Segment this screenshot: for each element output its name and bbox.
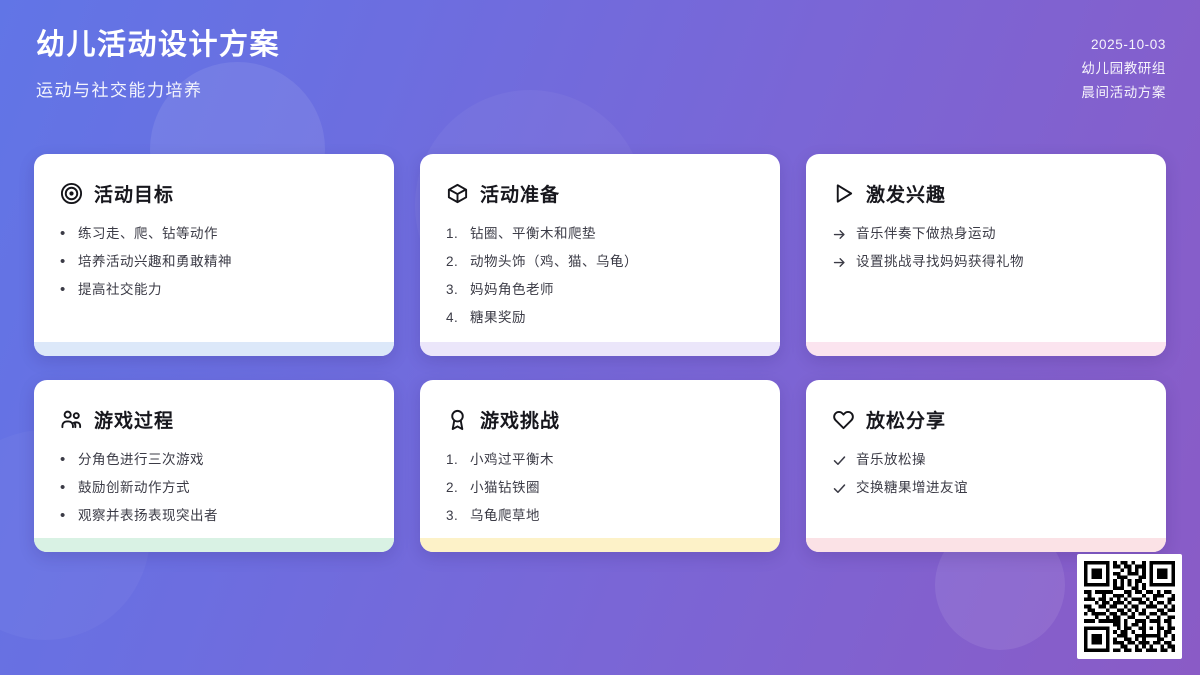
list-item-label: 音乐伴奏下做热身运动 [856, 223, 996, 245]
list-item: 设置挑战寻找妈妈获得礼物 [832, 251, 1140, 273]
meta-category: 晨间活动方案 [1081, 84, 1166, 102]
card-objectives[interactable]: 活动目标练习走、爬、钻等动作培养活动兴趣和勇敢精神提高社交能力 [34, 154, 394, 356]
card-list: 练习走、爬、钻等动作培养活动兴趣和勇敢精神提高社交能力 [60, 223, 368, 301]
list-item: 1.钻圈、平衡木和爬垫 [446, 223, 754, 245]
card-title: 活动准备 [480, 180, 560, 207]
qr-code-container[interactable] [1077, 554, 1182, 659]
bullet-dot-icon [60, 477, 69, 499]
card-header: 活动目标 [60, 180, 368, 207]
users-icon [60, 408, 83, 431]
list-item-label: 观察并表扬表现突出者 [78, 505, 218, 527]
list-number: 3. [446, 279, 461, 301]
card-header: 活动准备 [446, 180, 754, 207]
list-item: 4.糖果奖励 [446, 307, 754, 329]
card-list: 音乐放松操交换糖果增进友谊 [832, 449, 1140, 499]
list-item-label: 妈妈角色老师 [470, 279, 554, 301]
card-header: 游戏过程 [60, 406, 368, 433]
arrow-right-icon [832, 223, 847, 245]
list-item-label: 鼓励创新动作方式 [78, 477, 190, 499]
list-item: 观察并表扬表现突出者 [60, 505, 368, 527]
list-item-label: 练习走、爬、钻等动作 [78, 223, 218, 245]
card-spark-interest[interactable]: 激发兴趣音乐伴奏下做热身运动设置挑战寻找妈妈获得礼物 [806, 154, 1166, 356]
card-relax-share[interactable]: 放松分享音乐放松操交换糖果增进友谊 [806, 380, 1166, 552]
list-item: 交换糖果增进友谊 [832, 477, 1140, 499]
bullet-dot-icon [60, 223, 69, 245]
list-item: 鼓励创新动作方式 [60, 477, 368, 499]
bullet-dot-icon [60, 251, 69, 273]
check-icon [832, 477, 847, 499]
card-list: 1.小鸡过平衡木2.小猫钻铁圈3.乌龟爬草地 [446, 449, 754, 527]
slide-header: 幼儿活动设计方案 运动与社交能力培养 2025-10-03 幼儿园教研组 晨间活… [0, 0, 1200, 136]
list-item-label: 动物头饰（鸡、猫、乌龟） [470, 251, 638, 273]
card-accent-bar [806, 342, 1166, 356]
package-icon [446, 182, 469, 205]
card-list: 分角色进行三次游戏鼓励创新动作方式观察并表扬表现突出者 [60, 449, 368, 527]
list-number: 2. [446, 251, 461, 273]
list-item-label: 培养活动兴趣和勇敢精神 [78, 251, 232, 273]
card-title: 游戏挑战 [480, 406, 560, 433]
card-accent-bar [420, 342, 780, 356]
card-header: 游戏挑战 [446, 406, 754, 433]
list-item-label: 交换糖果增进友谊 [856, 477, 968, 499]
meta-organization: 幼儿园教研组 [1081, 60, 1166, 78]
bullet-dot-icon [60, 449, 69, 471]
list-item-label: 乌龟爬草地 [470, 505, 540, 527]
list-item: 分角色进行三次游戏 [60, 449, 368, 471]
list-item: 练习走、爬、钻等动作 [60, 223, 368, 245]
list-item-label: 糖果奖励 [470, 307, 526, 329]
page-subtitle: 运动与社交能力培养 [36, 76, 280, 101]
card-accent-bar [806, 538, 1166, 552]
list-number: 2. [446, 477, 461, 499]
qr-code [1084, 561, 1175, 652]
list-number: 3. [446, 505, 461, 527]
card-list: 1.钻圈、平衡木和爬垫2.动物头饰（鸡、猫、乌龟）3.妈妈角色老师4.糖果奖励 [446, 223, 754, 329]
list-item: 2.动物头饰（鸡、猫、乌龟） [446, 251, 754, 273]
list-item-label: 设置挑战寻找妈妈获得礼物 [856, 251, 1024, 273]
card-title: 激发兴趣 [866, 180, 946, 207]
list-number: 1. [446, 449, 461, 471]
play-icon [832, 182, 855, 205]
meta-date: 2025-10-03 [1091, 36, 1166, 54]
card-accent-bar [34, 342, 394, 356]
list-number: 1. [446, 223, 461, 245]
heart-icon [832, 408, 855, 431]
bullet-dot-icon [60, 279, 69, 301]
card-list: 音乐伴奏下做热身运动设置挑战寻找妈妈获得礼物 [832, 223, 1140, 273]
card-preparation[interactable]: 活动准备1.钻圈、平衡木和爬垫2.动物头饰（鸡、猫、乌龟）3.妈妈角色老师4.糖… [420, 154, 780, 356]
list-item-label: 分角色进行三次游戏 [78, 449, 204, 471]
header-title-block: 幼儿活动设计方案 运动与社交能力培养 [36, 26, 280, 101]
card-game-process[interactable]: 游戏过程分角色进行三次游戏鼓励创新动作方式观察并表扬表现突出者 [34, 380, 394, 552]
card-accent-bar [34, 538, 394, 552]
award-icon [446, 408, 469, 431]
card-title: 活动目标 [94, 180, 174, 207]
arrow-right-icon [832, 251, 847, 273]
list-item: 培养活动兴趣和勇敢精神 [60, 251, 368, 273]
list-item: 1.小鸡过平衡木 [446, 449, 754, 471]
card-accent-bar [420, 538, 780, 552]
bullet-dot-icon [60, 505, 69, 527]
card-header: 放松分享 [832, 406, 1140, 433]
target-icon [60, 182, 83, 205]
check-icon [832, 449, 847, 471]
card-header: 激发兴趣 [832, 180, 1140, 207]
card-title: 游戏过程 [94, 406, 174, 433]
page-title: 幼儿活动设计方案 [36, 26, 280, 65]
list-item-label: 钻圈、平衡木和爬垫 [470, 223, 596, 245]
list-item-label: 提高社交能力 [78, 279, 162, 301]
card-title: 放松分享 [866, 406, 946, 433]
list-item-label: 小鸡过平衡木 [470, 449, 554, 471]
list-number: 4. [446, 307, 461, 329]
list-item: 3.妈妈角色老师 [446, 279, 754, 301]
list-item: 3.乌龟爬草地 [446, 505, 754, 527]
card-game-challenge[interactable]: 游戏挑战1.小鸡过平衡木2.小猫钻铁圈3.乌龟爬草地 [420, 380, 780, 552]
list-item: 音乐放松操 [832, 449, 1140, 471]
list-item: 2.小猫钻铁圈 [446, 477, 754, 499]
slide-root: 幼儿活动设计方案 运动与社交能力培养 2025-10-03 幼儿园教研组 晨间活… [0, 0, 1200, 675]
header-meta-block: 2025-10-03 幼儿园教研组 晨间活动方案 [1081, 26, 1166, 103]
list-item: 提高社交能力 [60, 279, 368, 301]
list-item: 音乐伴奏下做热身运动 [832, 223, 1140, 245]
list-item-label: 音乐放松操 [856, 449, 926, 471]
list-item-label: 小猫钻铁圈 [470, 477, 540, 499]
card-grid: 活动目标练习走、爬、钻等动作培养活动兴趣和勇敢精神提高社交能力活动准备1.钻圈、… [34, 154, 1166, 552]
